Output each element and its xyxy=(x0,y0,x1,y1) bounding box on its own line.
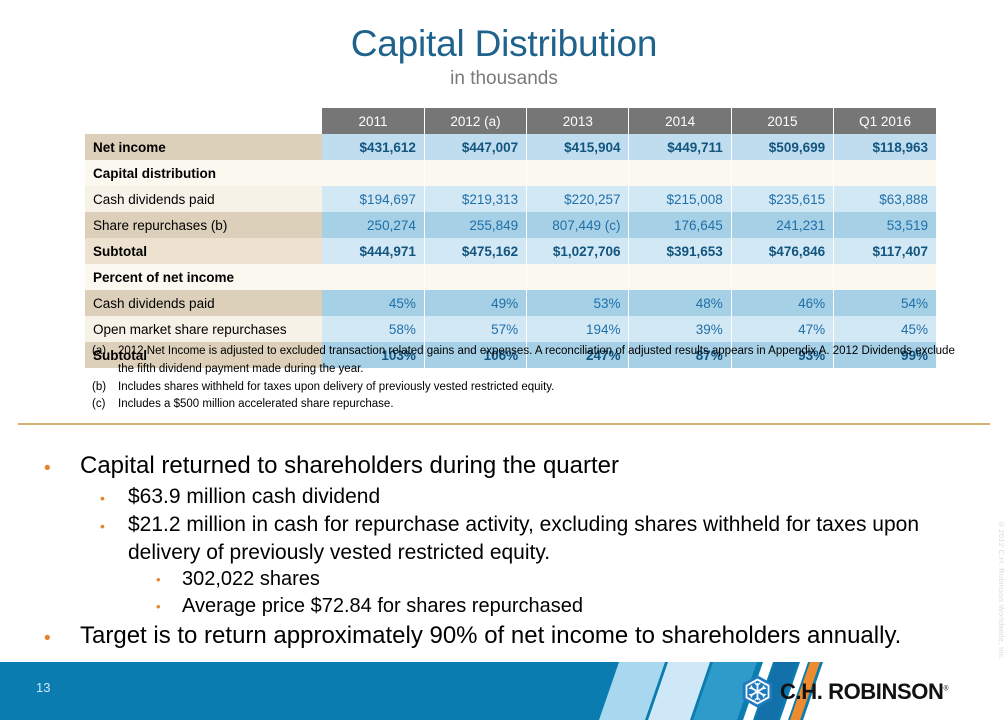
slide-footer: 13 xyxy=(0,662,1008,720)
bullet-dot-icon: • xyxy=(100,483,128,505)
table-row: Subtotal$444,971$475,162$1,027,706$391,6… xyxy=(85,238,936,264)
bullet-dot-icon: • xyxy=(156,566,182,586)
table-cell: $235,615 xyxy=(731,186,833,212)
table-cell: 39% xyxy=(629,316,731,342)
table-cell: 250,274 xyxy=(322,212,424,238)
company-logo-text: C.H. ROBINSON® xyxy=(780,681,948,703)
table-body: Net income$431,612$447,007$415,904$449,7… xyxy=(85,134,936,368)
footnote: (b)Includes shares withheld for taxes up… xyxy=(92,379,962,397)
table-cell: $475,162 xyxy=(424,238,526,264)
table-row: Cash dividends paid$194,697$219,313$220,… xyxy=(85,186,936,212)
table-cell xyxy=(731,160,833,186)
snowflake-shield-icon xyxy=(740,674,775,709)
footnote-text: Includes shares withheld for taxes upon … xyxy=(118,379,962,397)
table-cell xyxy=(322,264,424,290)
row-label: Cash dividends paid xyxy=(85,186,322,212)
table-cell xyxy=(834,264,936,290)
bullet-dot-icon: • xyxy=(44,450,80,478)
table-row: Capital distribution xyxy=(85,160,936,186)
bullet-text: $63.9 million cash dividend xyxy=(128,483,380,511)
table-row: Open market share repurchases58%57%194%3… xyxy=(85,316,936,342)
bullet-item-level-3: •302,022 shares xyxy=(156,566,974,593)
table-cell: $391,653 xyxy=(629,238,731,264)
table-cell: $220,257 xyxy=(527,186,629,212)
table-cell: $476,846 xyxy=(731,238,833,264)
table-corner-cell xyxy=(85,108,322,134)
footnote-text: Includes a $500 million accelerated shar… xyxy=(118,396,962,414)
logo-wordmark: C.H. ROBINSON xyxy=(780,679,943,704)
table-col-header: 2011 xyxy=(322,108,424,134)
table-row: Share repurchases (b)250,274255,849807,4… xyxy=(85,212,936,238)
table-cell: 53% xyxy=(527,290,629,316)
table-cell xyxy=(322,160,424,186)
table-cell: $117,407 xyxy=(834,238,936,264)
table-cell xyxy=(629,160,731,186)
capital-distribution-table: 20112012 (a)201320142015Q1 2016 Net inco… xyxy=(85,108,936,368)
row-label: Open market share repurchases xyxy=(85,316,322,342)
table-row: Percent of net income xyxy=(85,264,936,290)
row-label: Subtotal xyxy=(85,238,322,264)
bullet-text: Average price $72.84 for shares repurcha… xyxy=(182,593,583,620)
table-header-row: 20112012 (a)201320142015Q1 2016 xyxy=(85,108,936,134)
section-divider xyxy=(18,423,990,425)
table-col-header: 2014 xyxy=(629,108,731,134)
table-cell: $415,904 xyxy=(527,134,629,160)
bullet-item-level-1: •Target is to return approximately 90% o… xyxy=(44,620,974,652)
table-cell: 46% xyxy=(731,290,833,316)
table-cell xyxy=(527,264,629,290)
footnote: (c)Includes a $500 million accelerated s… xyxy=(92,396,962,414)
table-cell: 49% xyxy=(424,290,526,316)
bullet-dot-icon: • xyxy=(100,511,128,533)
table-cell: $194,697 xyxy=(322,186,424,212)
bullet-dot-icon: • xyxy=(156,593,182,613)
table-cell xyxy=(527,160,629,186)
table-col-header: 2013 xyxy=(527,108,629,134)
table-cell: 57% xyxy=(424,316,526,342)
table-cell: $447,007 xyxy=(424,134,526,160)
table-cell: 176,645 xyxy=(629,212,731,238)
table-cell: $118,963 xyxy=(834,134,936,160)
row-label: Cash dividends paid xyxy=(85,290,322,316)
footnote: (a)2012 Net Income is adjusted to exclud… xyxy=(92,343,962,379)
table-cell: $215,008 xyxy=(629,186,731,212)
bullet-item-level-3: •Average price $72.84 for shares repurch… xyxy=(156,593,974,620)
slide: Capital Distribution in thousands 201120… xyxy=(0,0,1008,720)
bullet-list: •Capital returned to shareholders during… xyxy=(44,450,974,652)
table-cell: $509,699 xyxy=(731,134,833,160)
table-cell xyxy=(629,264,731,290)
page-title: Capital Distribution xyxy=(0,24,1008,65)
slide-number: 13 xyxy=(36,680,50,695)
table-col-header: 2012 (a) xyxy=(424,108,526,134)
bullet-text: 302,022 shares xyxy=(182,566,320,593)
row-label: Share repurchases (b) xyxy=(85,212,322,238)
table-cell: $219,313 xyxy=(424,186,526,212)
table-cell: 807,449 (c) xyxy=(527,212,629,238)
bullet-text: Capital returned to shareholders during … xyxy=(80,450,619,482)
table-cell: $431,612 xyxy=(322,134,424,160)
table-cell: 255,849 xyxy=(424,212,526,238)
table-cell: 45% xyxy=(322,290,424,316)
table-col-header: 2015 xyxy=(731,108,833,134)
footnote-marker: (a) xyxy=(92,343,118,379)
bullet-item-level-2: •$21.2 million in cash for repurchase ac… xyxy=(100,511,974,567)
table-col-header: Q1 2016 xyxy=(834,108,936,134)
footnote-text: 2012 Net Income is adjusted to excluded … xyxy=(118,343,962,379)
table-cell: 58% xyxy=(322,316,424,342)
table-cell xyxy=(424,264,526,290)
bullet-text: $21.2 million in cash for repurchase act… xyxy=(128,511,974,567)
table-cell: 54% xyxy=(834,290,936,316)
table-cell: $444,971 xyxy=(322,238,424,264)
registered-mark: ® xyxy=(943,685,948,692)
table-cell: $449,711 xyxy=(629,134,731,160)
table-cell: 48% xyxy=(629,290,731,316)
table-cell: 241,231 xyxy=(731,212,833,238)
table-row: Cash dividends paid45%49%53%48%46%54% xyxy=(85,290,936,316)
table-cell xyxy=(731,264,833,290)
table-cell: $63,888 xyxy=(834,186,936,212)
footnote-marker: (c) xyxy=(92,396,118,414)
table-cell: $1,027,706 xyxy=(527,238,629,264)
bullet-item-level-2: •$63.9 million cash dividend xyxy=(100,483,974,511)
page-subtitle: in thousands xyxy=(0,69,1008,90)
table-cell: 194% xyxy=(527,316,629,342)
footnote-marker: (b) xyxy=(92,379,118,397)
table-cell xyxy=(424,160,526,186)
company-logo: C.H. ROBINSON® xyxy=(740,674,948,709)
table-cell: 53,519 xyxy=(834,212,936,238)
bullet-dot-icon: • xyxy=(44,620,80,648)
title-block: Capital Distribution in thousands xyxy=(0,24,1008,90)
table-cell: 47% xyxy=(731,316,833,342)
row-label: Net income xyxy=(85,134,322,160)
footnotes: (a)2012 Net Income is adjusted to exclud… xyxy=(92,343,962,414)
table-cell xyxy=(834,160,936,186)
row-label: Capital distribution xyxy=(85,160,322,186)
table-cell: 45% xyxy=(834,316,936,342)
bullet-item-level-1: •Capital returned to shareholders during… xyxy=(44,450,974,482)
table-row: Net income$431,612$447,007$415,904$449,7… xyxy=(85,134,936,160)
row-label: Percent of net income xyxy=(85,264,322,290)
bullet-text: Target is to return approximately 90% of… xyxy=(80,620,901,652)
